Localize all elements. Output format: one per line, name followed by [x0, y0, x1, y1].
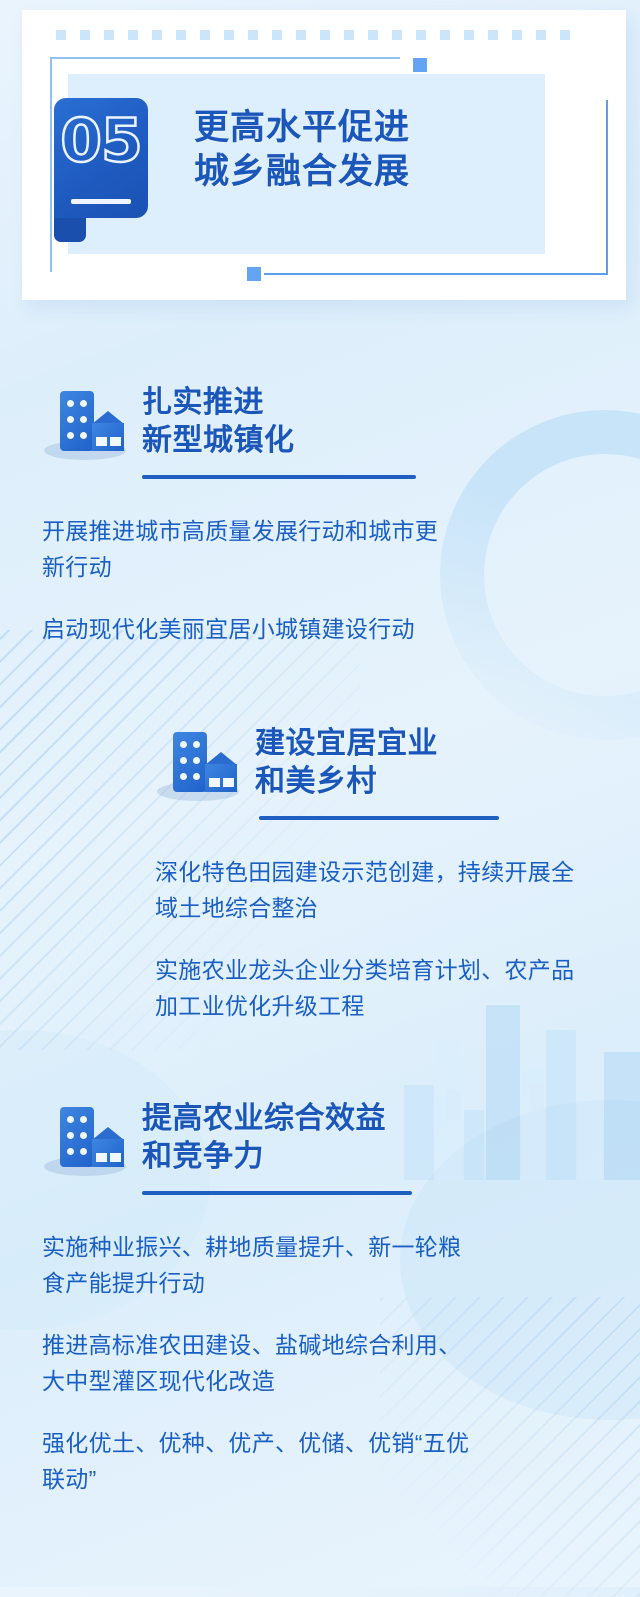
- page-title: 更高水平促进 城乡融合发展: [194, 106, 410, 194]
- section-2-paragraph: 深化特色田园建设示范创建，持续开展全域土地综合整治: [155, 854, 585, 926]
- header-frame-top-line: [50, 57, 400, 59]
- section-3-title: 提高农业综合效益 和竞争力: [142, 1100, 386, 1178]
- header-frame-right-line: [606, 100, 608, 275]
- section-new-urbanization: 扎实推进 新型城镇化 开展推进城市高质量发展行动和城市更新行动 启动现代化美丽宜…: [0, 382, 640, 647]
- building-house-icon: [42, 1098, 128, 1178]
- section-livable-countryside: 建设宜居宜业 和美乡村 深化特色田园建设示范创建，持续开展全域土地综合整治 实施…: [0, 723, 640, 1024]
- header-frame-bottom-line: [256, 273, 608, 275]
- section-2-paragraph: 实施农业龙头企业分类培育计划、农产品加工业优化升级工程: [155, 952, 585, 1024]
- badge-underline-bar: [71, 199, 131, 204]
- section-1-header: 扎实推进 新型城镇化: [42, 382, 640, 462]
- section-1-body: 开展推进城市高质量发展行动和城市更新行动 启动现代化美丽宜居小城镇建设行动: [42, 513, 454, 647]
- accent-square-top: [410, 55, 430, 75]
- section-1-paragraph: 启动现代化美丽宜居小城镇建设行动: [42, 611, 454, 647]
- section-3-body: 实施种业振兴、耕地质量提升、新一轮粮食产能提升行动 推进高标准农田建设、盐碱地综…: [42, 1229, 482, 1497]
- section-1-title-line-2: 新型城镇化: [142, 422, 295, 460]
- header-card: 05 更高水平促进 城乡融合发展: [22, 10, 626, 300]
- section-1-paragraph: 开展推进城市高质量发展行动和城市更新行动: [42, 513, 454, 585]
- section-3-paragraph: 强化优土、优种、优产、优储、优销“五优联动”: [42, 1425, 482, 1497]
- section-3-title-line-1: 提高农业综合效益: [142, 1100, 386, 1138]
- section-1-underline: [142, 475, 416, 479]
- section-2-body: 深化特色田园建设示范创建，持续开展全域土地综合整治 实施农业龙头企业分类培育计划…: [155, 854, 585, 1024]
- sections-container: 扎实推进 新型城镇化 开展推进城市高质量发展行动和城市更新行动 启动现代化美丽宜…: [0, 382, 640, 1497]
- section-number-badge: 05: [54, 98, 148, 218]
- section-3-header: 提高农业综合效益 和竞争力: [42, 1098, 640, 1178]
- accent-square-bottom: [244, 264, 264, 284]
- section-3-paragraph: 推进高标准农田建设、盐碱地综合利用、大中型灌区现代化改造: [42, 1327, 482, 1399]
- section-1-title-line-1: 扎实推进: [142, 384, 295, 422]
- decorative-dot-row: [56, 30, 570, 40]
- building-house-icon: [155, 723, 241, 803]
- section-1-title: 扎实推进 新型城镇化: [142, 384, 295, 462]
- section-2-title-line-2: 和美乡村: [255, 763, 438, 801]
- section-3-underline: [142, 1191, 412, 1195]
- section-2-title: 建设宜居宜业 和美乡村: [255, 725, 438, 803]
- section-number-text: 05: [54, 111, 148, 171]
- page-title-line-2: 城乡融合发展: [194, 150, 410, 194]
- section-2-title-line-1: 建设宜居宜业: [255, 725, 438, 763]
- section-2-underline: [259, 816, 499, 820]
- section-agricultural-efficiency: 提高农业综合效益 和竞争力 实施种业振兴、耕地质量提升、新一轮粮食产能提升行动 …: [0, 1098, 640, 1497]
- section-3-title-line-2: 和竞争力: [142, 1138, 386, 1176]
- header-frame-left-line: [50, 57, 52, 272]
- section-2-header: 建设宜居宜业 和美乡村: [155, 723, 640, 803]
- section-3-paragraph: 实施种业振兴、耕地质量提升、新一轮粮食产能提升行动: [42, 1229, 482, 1301]
- building-house-icon: [42, 382, 128, 462]
- page-title-line-1: 更高水平促进: [194, 106, 410, 150]
